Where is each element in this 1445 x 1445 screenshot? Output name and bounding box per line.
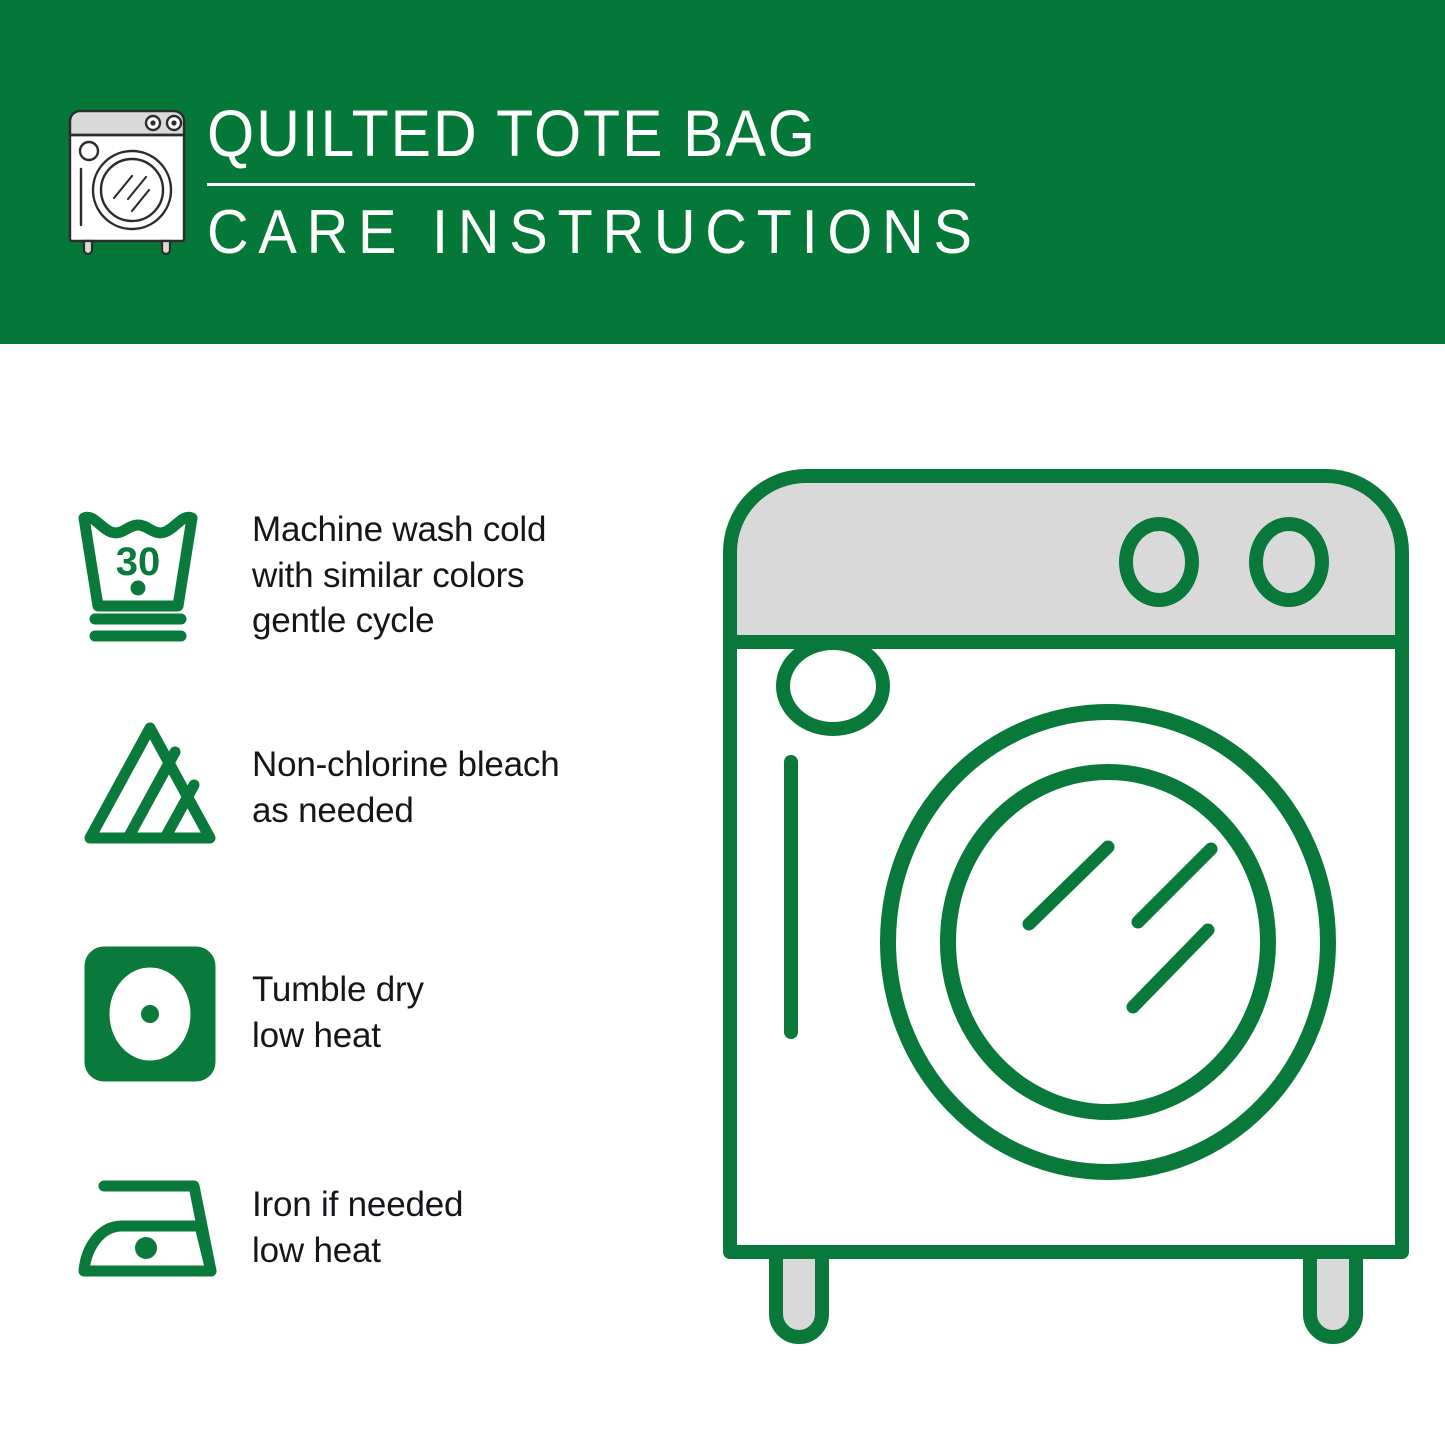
leg-right [1310, 1252, 1356, 1337]
tumble-dry-low-icon [70, 934, 230, 1094]
page-title: QUILTED TOTE BAG [207, 100, 1035, 166]
care-item-iron: Iron if needed low heat [70, 1148, 690, 1308]
care-item-wash-label: Machine wash cold with similar colors ge… [252, 494, 690, 644]
care-item-iron-label: Iron if needed low heat [252, 1148, 690, 1273]
control-panel-fill [730, 476, 1402, 642]
header-text-block: QUILTED TOTE BAG CARE INSTRUCTIONS [207, 100, 1107, 264]
page-subtitle: CARE INSTRUCTIONS [207, 202, 1044, 264]
leg-left [776, 1252, 822, 1337]
door-inner-ring [948, 772, 1268, 1112]
wash-tub-30-icon: 30 [70, 494, 230, 654]
care-item-bleach-label: Non-chlorine bleach as needed [252, 710, 690, 833]
care-item-bleach: Non-chlorine bleach as needed [70, 710, 690, 870]
care-item-wash: 30 Machine wash cold with similar colors… [70, 494, 690, 654]
iron-low-heat-icon [70, 1148, 230, 1308]
care-item-dry: Tumble dry low heat [70, 934, 690, 1094]
washing-machine-illustration [716, 462, 1416, 1362]
care-item-dry-label: Tumble dry low heat [252, 934, 690, 1058]
wash-temperature-label: 30 [116, 540, 161, 584]
title-divider [207, 183, 975, 186]
care-instructions-page: QUILTED TOTE BAG CARE INSTRUCTIONS 30 [0, 0, 1445, 1445]
header-banner: QUILTED TOTE BAG CARE INSTRUCTIONS [0, 0, 1445, 344]
care-instructions-list: 30 Machine wash cold with similar colors… [0, 344, 700, 1445]
washing-machine-icon [62, 103, 192, 255]
door-streaks [1029, 847, 1211, 1007]
dispenser-icon [783, 643, 883, 729]
bleach-triangle-icon [70, 710, 230, 870]
